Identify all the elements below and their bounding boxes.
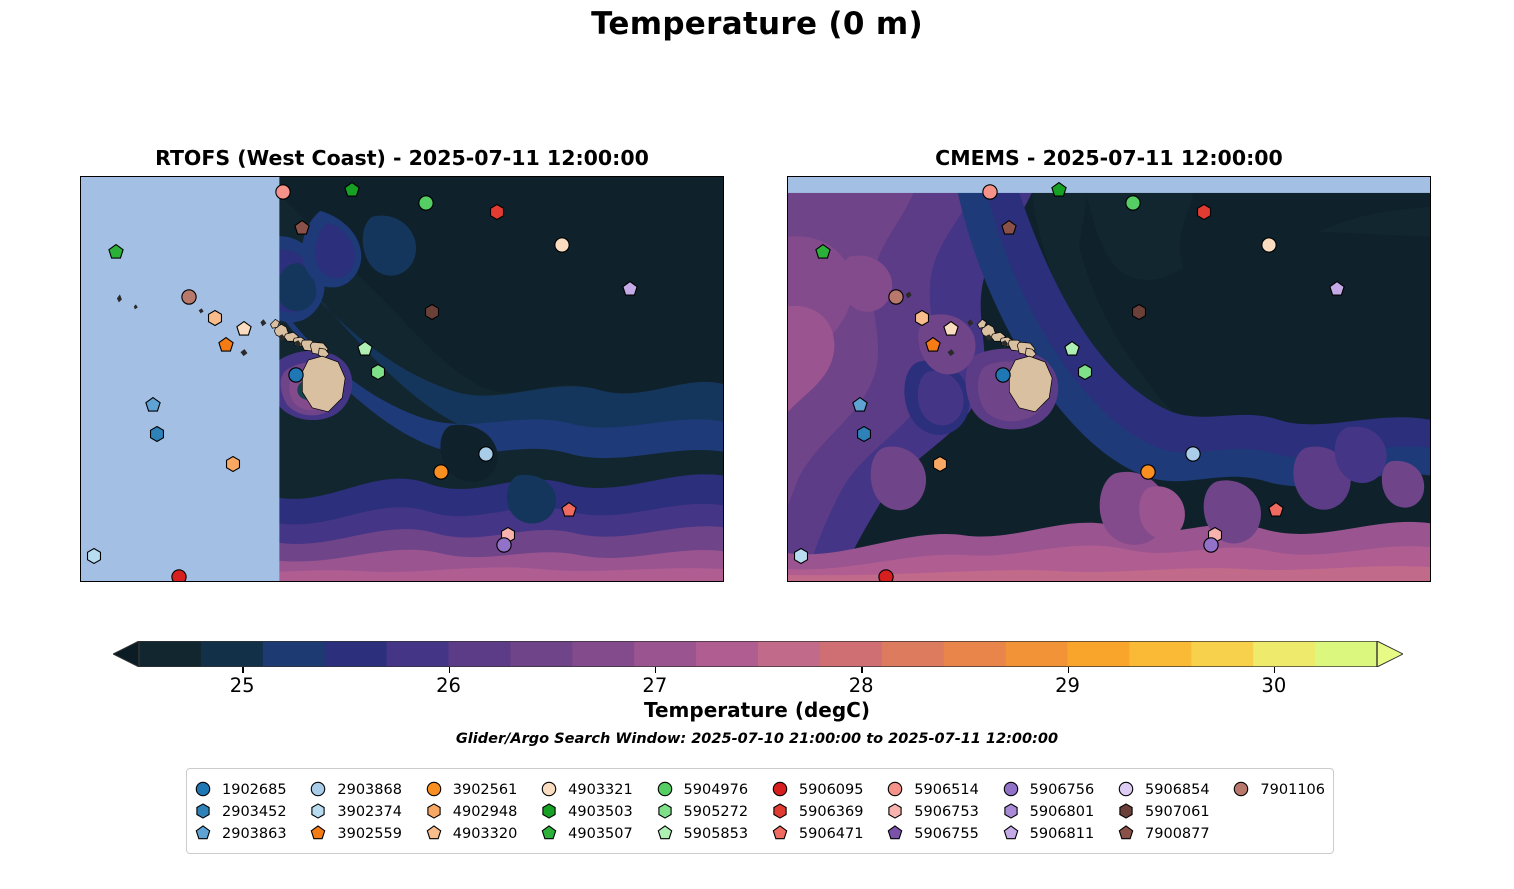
x-tick-minor: [482, 176, 484, 177]
colorbar-tick: [655, 667, 656, 673]
x-tick-minor: [265, 581, 267, 582]
float-marker-5906811[interactable]: [1328, 280, 1345, 297]
x-tick-minor: [721, 176, 723, 177]
legend-marker-icon: [1118, 825, 1136, 843]
legend-item-label: 4903320: [453, 826, 518, 842]
y-tick-minor: [787, 496, 788, 498]
y-tick-minor: [1430, 496, 1431, 498]
legend-item-label: 5906514: [914, 782, 979, 798]
float-marker-4903321[interactable]: [1261, 237, 1278, 254]
x-tick: [821, 581, 823, 582]
map-panel-rtofs: RTOFS (West Coast) - 2025-07-11 12:00:00: [80, 176, 724, 582]
y-tick-minor: [80, 382, 81, 384]
y-tick: [723, 268, 724, 270]
x-tick: [699, 581, 701, 582]
legend-marker-icon: [310, 781, 328, 799]
float-marker-3902374[interactable]: [86, 547, 103, 564]
x-tick-minor: [1037, 581, 1039, 582]
y-tick: [787, 268, 788, 270]
y-tick: [1430, 337, 1431, 339]
y-tick-minor: [787, 382, 788, 384]
float-marker-7900877[interactable]: [1001, 220, 1018, 237]
legend-marker-icon: [1118, 781, 1136, 799]
x-tick: [244, 176, 246, 177]
x-tick-minor: [612, 581, 614, 582]
y-tick-minor: [80, 496, 81, 498]
x-tick-minor: [222, 176, 224, 177]
x-tick-minor: [1102, 176, 1104, 177]
legend-item-5906801[interactable]: 5906801: [1003, 801, 1114, 823]
plot-area-rtofs[interactable]: 165°W162°W159°W156°W153°W150°W147°W144°W…: [80, 176, 724, 582]
x-tick-minor: [1428, 581, 1430, 582]
float-marker-3902561[interactable]: [432, 464, 449, 481]
colorbar-tick: [449, 667, 450, 673]
float-marker-7901106[interactable]: [181, 288, 198, 305]
float-marker-5904976[interactable]: [1124, 195, 1141, 212]
y-tick-minor: [1430, 177, 1431, 179]
panel-title-rtofs: RTOFS (West Coast) - 2025-07-11 12:00:00: [80, 146, 724, 170]
x-tick: [1211, 176, 1213, 177]
x-tick-minor: [656, 176, 658, 177]
legend-item-label: 5905272: [684, 804, 749, 820]
legend-marker-icon: [772, 825, 790, 843]
legend-item-4903320[interactable]: 4903320: [426, 823, 537, 845]
y-tick: [787, 474, 788, 476]
x-tick: [1081, 581, 1083, 582]
x-tick: [634, 176, 636, 177]
x-tick-minor: [591, 581, 593, 582]
y-tick-minor: [80, 245, 81, 247]
y-tick-minor: [787, 359, 788, 361]
legend-item-label: 5905853: [684, 826, 749, 842]
y-tick-minor: [723, 519, 724, 521]
float-marker-5905853[interactable]: [357, 341, 374, 358]
y-tick: [723, 474, 724, 476]
legend-item-label: 5906471: [799, 826, 864, 842]
colorbar-tick: [1274, 667, 1275, 673]
y-tick-minor: [723, 359, 724, 361]
legend-marker-icon: [426, 825, 444, 843]
x-tick: [179, 176, 181, 177]
y-tick-minor: [787, 245, 788, 247]
x-tick-minor: [864, 581, 866, 582]
legend-item-2903863[interactable]: 2903863: [195, 823, 306, 845]
float-marker-2903452[interactable]: [148, 425, 165, 442]
x-tick-minor: [157, 176, 159, 177]
float-marker-1902685[interactable]: [287, 367, 304, 384]
colorbar-tick-label: 28: [849, 674, 874, 697]
y-tick-minor: [1430, 519, 1431, 521]
legend-item-5906369[interactable]: 5906369: [772, 801, 883, 823]
x-tick-minor: [1298, 581, 1300, 582]
legend-marker-icon: [1003, 825, 1021, 843]
y-tick: [723, 542, 724, 544]
legend-item-5906471[interactable]: 5906471: [772, 823, 883, 845]
x-tick: [309, 581, 311, 582]
float-marker-4903503[interactable]: [344, 181, 361, 198]
x-tick: [244, 581, 246, 582]
x-tick-minor: [92, 581, 94, 582]
legend-marker-icon: [541, 825, 559, 843]
x-tick: [179, 581, 181, 582]
y-tick-minor: [787, 291, 788, 293]
legend-marker-icon: [657, 781, 675, 799]
x-tick-minor: [1059, 176, 1061, 177]
x-tick-minor: [864, 176, 866, 177]
legend-item-5905272[interactable]: 5905272: [657, 801, 768, 823]
y-tick-minor: [80, 428, 81, 430]
y-tick: [787, 200, 788, 202]
y-tick-minor: [787, 451, 788, 453]
x-tick: [951, 581, 953, 582]
legend-item-label: 5906801: [1030, 804, 1095, 820]
x-tick: [1341, 176, 1343, 177]
legend-item-label: 2903452: [222, 804, 287, 820]
x-tick-minor: [482, 581, 484, 582]
float-marker-4903321[interactable]: [554, 237, 571, 254]
y-tick-minor: [787, 428, 788, 430]
legend-item-5906854[interactable]: 5906854: [1118, 779, 1229, 801]
x-tick-minor: [1384, 176, 1386, 177]
y-tick-minor: [787, 565, 788, 567]
y-tick-minor: [787, 314, 788, 316]
x-tick-minor: [799, 581, 801, 582]
x-tick: [1146, 581, 1148, 582]
y-tick-minor: [723, 428, 724, 430]
legend-item-3902374[interactable]: 3902374: [310, 801, 421, 823]
x-tick: [699, 176, 701, 177]
temperature-field-cmems: [788, 177, 1430, 581]
legend-item-3902559[interactable]: 3902559: [310, 823, 421, 845]
x-tick-minor: [842, 581, 844, 582]
legend-marker-icon: [887, 825, 905, 843]
legend-item-5906811[interactable]: 5906811: [1003, 823, 1114, 845]
colorbar-tick-label: 29: [1055, 674, 1080, 697]
x-tick-minor: [1124, 581, 1126, 582]
y-tick-minor: [787, 519, 788, 521]
float-marker-5907061[interactable]: [424, 303, 441, 320]
x-tick: [1016, 581, 1018, 582]
float-marker-2903863[interactable]: [144, 397, 161, 414]
legend-marker-icon: [887, 803, 905, 821]
legend-item-label: 5906811: [1030, 826, 1095, 842]
float-marker-3902559[interactable]: [925, 336, 942, 353]
legend-item-label: 5904976: [684, 782, 749, 798]
y-tick-minor: [1430, 451, 1431, 453]
float-marker-3902561[interactable]: [1139, 464, 1156, 481]
float-marker-4903320[interactable]: [914, 310, 931, 327]
x-tick-minor: [1059, 581, 1061, 582]
x-tick: [374, 581, 376, 582]
legend-item-5906095[interactable]: 5906095: [772, 779, 883, 801]
y-tick-minor: [1430, 314, 1431, 316]
float-marker-3902559[interactable]: [218, 336, 235, 353]
float-marker-4902948[interactable]: [224, 456, 241, 473]
colorbar-tick: [242, 667, 243, 673]
x-tick: [886, 581, 888, 582]
legend-item-label: 5906755: [914, 826, 979, 842]
y-tick-minor: [723, 291, 724, 293]
y-tick-minor: [723, 496, 724, 498]
float-marker-3902374[interactable]: [793, 547, 810, 564]
colorbar-tick: [1068, 667, 1069, 673]
x-tick: [951, 176, 953, 177]
x-tick-minor: [929, 176, 931, 177]
y-tick-minor: [723, 565, 724, 567]
x-tick-minor: [417, 176, 419, 177]
y-tick: [80, 200, 81, 202]
legend-marker-icon: [1003, 803, 1021, 821]
legend-item-7901106[interactable]: 7901106: [1233, 779, 1325, 801]
y-tick-minor: [80, 359, 81, 361]
x-tick-minor: [994, 176, 996, 177]
x-tick-minor: [547, 581, 549, 582]
legend-item-label: 4903321: [568, 782, 633, 798]
x-tick-minor: [526, 581, 528, 582]
x-tick-minor: [352, 581, 354, 582]
float-marker-4903321b[interactable]: [235, 320, 252, 337]
y-tick-minor: [80, 451, 81, 453]
x-tick-minor: [677, 581, 679, 582]
x-tick-minor: [135, 581, 137, 582]
page-title: Temperature (0 m): [0, 6, 1514, 42]
y-tick-minor: [80, 519, 81, 521]
legend-marker-icon: [1233, 781, 1251, 799]
legend-item-label: 7900877: [1145, 826, 1210, 842]
legend-marker-icon: [657, 803, 675, 821]
x-tick-minor: [1233, 176, 1235, 177]
x-tick-minor: [1167, 581, 1169, 582]
x-tick-minor: [799, 176, 801, 177]
legend-item-2903452[interactable]: 2903452: [195, 801, 306, 823]
y-tick-minor: [723, 382, 724, 384]
x-tick-minor: [907, 581, 909, 582]
legend-item-label: 2903868: [337, 782, 402, 798]
legend-item-label: 4902948: [453, 804, 518, 820]
x-tick-minor: [1102, 581, 1104, 582]
y-tick: [723, 337, 724, 339]
y-tick: [1430, 268, 1431, 270]
x-tick: [114, 581, 116, 582]
y-tick-minor: [1430, 245, 1431, 247]
float-marker-4903507[interactable]: [814, 244, 831, 261]
legend-item-label: 5906756: [1030, 782, 1095, 798]
float-marker-4902948[interactable]: [931, 456, 948, 473]
x-tick-minor: [1189, 581, 1191, 582]
float-marker-5906756[interactable]: [1202, 537, 1219, 554]
y-tick-minor: [1430, 359, 1431, 361]
legend-item-label: 5906753: [914, 804, 979, 820]
legend-item-5906514[interactable]: 5906514: [887, 779, 998, 801]
x-tick: [569, 176, 571, 177]
legend-item-label: 3902561: [453, 782, 518, 798]
float-marker-5905853[interactable]: [1064, 341, 1081, 358]
x-tick-minor: [417, 581, 419, 582]
x-tick-minor: [907, 176, 909, 177]
legend-item-label: 1902685: [222, 782, 287, 798]
x-tick-minor: [222, 581, 224, 582]
y-tick: [1430, 405, 1431, 407]
float-marker-5906369[interactable]: [489, 204, 506, 221]
x-tick-minor: [547, 176, 549, 177]
float-marker-2903868[interactable]: [478, 446, 495, 463]
float-marker-5906514[interactable]: [981, 183, 998, 200]
legend-item-label: 4903507: [568, 826, 633, 842]
x-tick: [309, 176, 311, 177]
legend-marker-icon: [772, 781, 790, 799]
x-tick-minor: [842, 176, 844, 177]
y-tick: [723, 200, 724, 202]
y-tick: [723, 405, 724, 407]
y-tick-minor: [80, 314, 81, 316]
x-tick: [1211, 581, 1213, 582]
x-tick: [114, 176, 116, 177]
x-tick: [1081, 176, 1083, 177]
float-marker-5906756[interactable]: [495, 537, 512, 554]
y-tick-minor: [80, 291, 81, 293]
x-tick: [1341, 581, 1343, 582]
x-tick-minor: [1233, 581, 1235, 582]
x-tick-minor: [200, 176, 202, 177]
legend-marker-icon: [426, 781, 444, 799]
y-tick-minor: [787, 177, 788, 179]
float-marker-2903452[interactable]: [855, 425, 872, 442]
x-tick-minor: [721, 581, 723, 582]
legend-item-5905853[interactable]: 5905853: [657, 823, 768, 845]
x-tick-minor: [1254, 176, 1256, 177]
y-tick-minor: [723, 223, 724, 225]
float-marker-5906471[interactable]: [1267, 502, 1284, 519]
x-tick: [1146, 176, 1148, 177]
x-tick: [634, 581, 636, 582]
x-tick-minor: [287, 176, 289, 177]
float-marker-5905272[interactable]: [370, 364, 387, 381]
legend-marker-icon: [195, 825, 213, 843]
legend-item-4903507[interactable]: 4903507: [541, 823, 652, 845]
legend-marker-icon: [195, 803, 213, 821]
x-tick-minor: [929, 581, 931, 582]
legend-item-7900877[interactable]: 7900877: [1118, 823, 1229, 845]
float-marker-7901106[interactable]: [888, 288, 905, 305]
x-tick: [1276, 581, 1278, 582]
legend-item-5907061[interactable]: 5907061: [1118, 801, 1229, 823]
x-tick: [821, 176, 823, 177]
float-marker-5907061[interactable]: [1131, 303, 1148, 320]
colorbar-label: Temperature (degC): [0, 698, 1514, 722]
x-tick-minor: [460, 176, 462, 177]
panel-title-cmems: CMEMS - 2025-07-11 12:00:00: [787, 146, 1431, 170]
float-marker-5906471[interactable]: [560, 502, 577, 519]
float-marker-2903868[interactable]: [1185, 446, 1202, 463]
colorbar-tick-label: 26: [436, 674, 461, 697]
float-marker-5905272[interactable]: [1077, 364, 1094, 381]
float-marker-4903320[interactable]: [207, 310, 224, 327]
y-tick: [80, 542, 81, 544]
legend-marker-icon: [541, 803, 559, 821]
x-tick-minor: [395, 176, 397, 177]
legend-marker-icon: [1003, 781, 1021, 799]
colorbar-tick-label: 30: [1261, 674, 1286, 697]
legend-item-label: 3902559: [337, 826, 402, 842]
y-tick-minor: [80, 223, 81, 225]
x-tick: [439, 581, 441, 582]
legend-item-4902948[interactable]: 4902948: [426, 801, 537, 823]
colorbar-tick: [861, 667, 862, 673]
y-tick: [1430, 474, 1431, 476]
legend-item-5906755[interactable]: 5906755: [887, 823, 998, 845]
x-tick-minor: [656, 581, 658, 582]
legend-item-label: 7901106: [1260, 782, 1325, 798]
legend-marker-icon: [310, 825, 328, 843]
y-tick: [1430, 200, 1431, 202]
float-marker-1902685[interactable]: [994, 367, 1011, 384]
y-tick-minor: [723, 451, 724, 453]
float-marker-5906811[interactable]: [621, 280, 638, 297]
plot-area-cmems[interactable]: 165°W162°W159°W156°W153°W150°W147°W144°W…: [787, 176, 1431, 582]
legend-marker-icon: [541, 781, 559, 799]
legend-item-4903503[interactable]: 4903503: [541, 801, 652, 823]
float-marker-2903863[interactable]: [851, 397, 868, 414]
legend-marker-icon: [310, 803, 328, 821]
x-tick-minor: [1167, 176, 1169, 177]
legend-item-label: 5907061: [1145, 804, 1210, 820]
x-tick-minor: [287, 581, 289, 582]
x-tick: [1016, 176, 1018, 177]
legend-item-2903868[interactable]: 2903868: [310, 779, 421, 801]
y-tick-minor: [1430, 428, 1431, 430]
float-marker-5904976[interactable]: [417, 195, 434, 212]
y-tick: [80, 268, 81, 270]
float-marker-5906514[interactable]: [274, 183, 291, 200]
x-tick-minor: [1363, 581, 1365, 582]
float-marker-7900877[interactable]: [294, 220, 311, 237]
y-tick-minor: [1430, 223, 1431, 225]
float-marker-4903321b[interactable]: [942, 320, 959, 337]
x-tick-minor: [1298, 176, 1300, 177]
legend-item-5906756[interactable]: 5906756: [1003, 779, 1114, 801]
x-tick-minor: [92, 176, 94, 177]
float-marker-4903503[interactable]: [1051, 181, 1068, 198]
legend-marker-icon: [1118, 803, 1136, 821]
x-tick-minor: [1319, 581, 1321, 582]
x-tick-minor: [157, 581, 159, 582]
x-tick-minor: [1428, 176, 1430, 177]
x-tick-minor: [1363, 176, 1365, 177]
legend-item-5904976[interactable]: 5904976: [657, 779, 768, 801]
x-tick: [374, 176, 376, 177]
map-panel-cmems: CMEMS - 2025-07-11 12:00:00: [787, 176, 1431, 582]
legend-item-1902685[interactable]: 1902685: [195, 779, 306, 801]
x-tick: [504, 176, 506, 177]
legend-item-3902561[interactable]: 3902561: [426, 779, 537, 801]
legend-item-label: 5906369: [799, 804, 864, 820]
legend-item-5906753[interactable]: 5906753: [887, 801, 998, 823]
y-tick: [787, 337, 788, 339]
temperature-field-rtofs: [81, 177, 723, 581]
y-tick-minor: [723, 245, 724, 247]
float-marker-4903507[interactable]: [107, 244, 124, 261]
y-tick: [80, 405, 81, 407]
x-tick-minor: [612, 176, 614, 177]
y-tick: [787, 542, 788, 544]
float-marker-5906369[interactable]: [1196, 204, 1213, 221]
x-tick-minor: [330, 581, 332, 582]
y-tick-minor: [80, 565, 81, 567]
legend-item-4903321[interactable]: 4903321: [541, 779, 652, 801]
legend-marker-icon: [195, 781, 213, 799]
legend-item-label: 2903863: [222, 826, 287, 842]
x-tick-minor: [1254, 581, 1256, 582]
